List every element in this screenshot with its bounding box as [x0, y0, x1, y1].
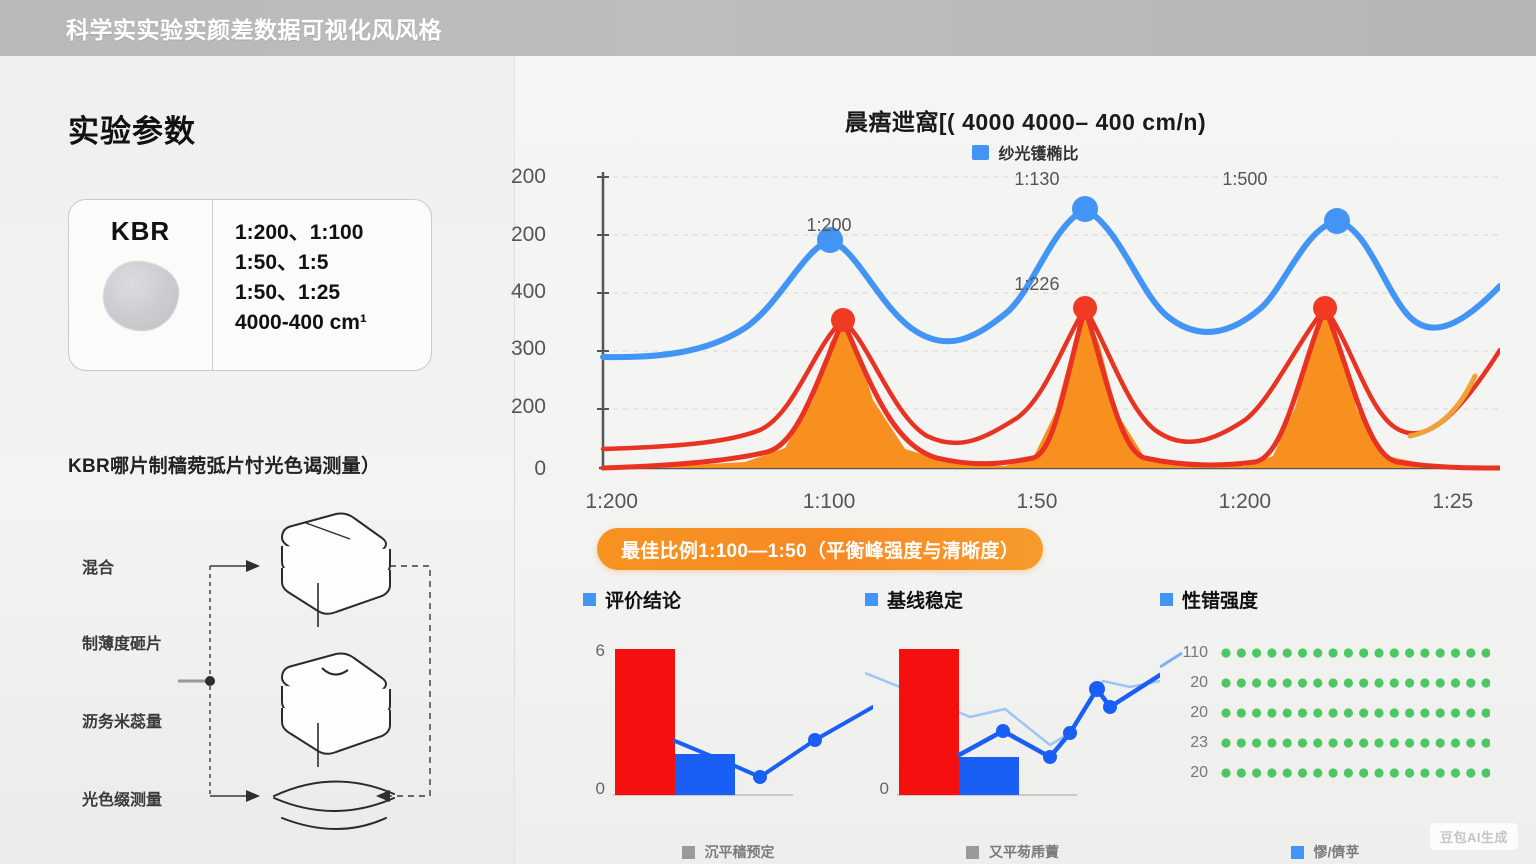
right-panel: 晨痦迣窩[( 4000 4000– 400 cm/n) 纱光镬椭比 200 20…: [515, 56, 1536, 864]
matrix-dot: [1405, 768, 1414, 777]
parameter-card: KBR 1:200、1:100 1:50、1:5 1:50、1:25 4000-…: [68, 199, 432, 371]
data-point-marker: [1073, 296, 1097, 320]
dot-row-label: 20: [1190, 704, 1208, 722]
matrix-dot: [1374, 648, 1383, 657]
y-tick-label: 400: [511, 280, 546, 304]
lens-icon: [274, 781, 394, 829]
legend-swatch-icon: [966, 846, 979, 859]
data-point-marker: [831, 308, 855, 332]
y-tick-label: 200: [511, 165, 546, 189]
parameter-line: 1:200、1:100: [235, 218, 431, 248]
matrix-dot: [1466, 648, 1475, 657]
matrix-dot: [1359, 678, 1368, 687]
chart-title: 晨痦迣窩[( 4000 4000– 400 cm/n): [515, 103, 1536, 137]
data-point-label: 1:500: [1222, 169, 1267, 190]
matrix-dot: [1329, 768, 1338, 777]
matrix-dot: [1420, 768, 1429, 777]
flow-diagram-title: KBR哪片制穑菀弤片忖光色谒测量）: [68, 451, 380, 478]
matrix-dot: [1405, 738, 1414, 747]
matrix-dot: [1420, 708, 1429, 717]
matrix-dot: [1252, 648, 1261, 657]
parameter-line: 1:50、1:25: [235, 278, 431, 308]
matrix-dot: [1221, 768, 1230, 777]
page-title: 科学实实验实颜差数据可视化风风格: [66, 11, 442, 45]
legend-swatch-icon: [1291, 846, 1304, 859]
matrix-dot: [1252, 738, 1261, 747]
matrix-dot: [1374, 708, 1383, 717]
mini-chart-1-svg: [865, 637, 1160, 827]
matrix-dot: [1267, 708, 1276, 717]
y-tick-label: 200: [511, 395, 546, 419]
matrix-dot: [1313, 738, 1322, 747]
matrix-dot: [1313, 708, 1322, 717]
panel-title: 基线稳定: [887, 586, 963, 613]
matrix-dot: [1267, 738, 1276, 747]
dot-row-label: 110: [1182, 644, 1208, 662]
data-point-marker: [1072, 196, 1098, 222]
matrix-dot: [1267, 768, 1276, 777]
header-bar: 科学实实验实颜差数据可视化风风格: [0, 0, 1536, 56]
matrix-dot: [1482, 648, 1491, 657]
dot-row-label: 20: [1190, 764, 1208, 782]
x-tick-label: 1:200: [1219, 490, 1272, 514]
spectrum-chart: 200 200 400 300 200 0 1:200 1:100 1:50 1…: [555, 168, 1500, 478]
matrix-dot: [1329, 648, 1338, 657]
matrix-dot: [1436, 678, 1445, 687]
x-tick-label: 1:100: [803, 490, 856, 514]
matrix-dot: [1221, 738, 1230, 747]
matrix-dot: [1344, 768, 1353, 777]
matrix-dot: [1221, 678, 1230, 687]
parameter-values: 1:200、1:100 1:50、1:5 1:50、1:25 4000-400 …: [213, 200, 431, 370]
panel-chart: 0: [865, 637, 1160, 827]
matrix-dot: [1482, 768, 1491, 777]
matrix-dot: [1466, 708, 1475, 717]
watermark: 豆包AI生成: [1430, 823, 1518, 850]
matrix-dot: [1237, 648, 1246, 657]
flow-step-label: 沥务米蕊量: [82, 708, 162, 732]
matrix-dot: [1451, 768, 1460, 777]
matrix-dot: [1283, 768, 1292, 777]
matrix-dot: [1451, 708, 1460, 717]
trend-point: [996, 724, 1010, 738]
parameter-line: 1:50、1:5: [235, 248, 431, 278]
matrix-dot: [1237, 678, 1246, 687]
bullet-square-icon: [1160, 593, 1173, 606]
mini-legend: 又平茐乕藚: [865, 842, 1160, 862]
matrix-dot: [1298, 738, 1307, 747]
bar-red: [899, 649, 959, 795]
matrix-dot: [1420, 738, 1429, 747]
bar-blue: [959, 757, 1019, 795]
data-point-label: 1:226: [1014, 274, 1059, 295]
matrix-dot: [1390, 678, 1399, 687]
matrix-dot: [1252, 708, 1261, 717]
matrix-dot: [1237, 738, 1246, 747]
matrix-dot: [1482, 678, 1491, 687]
matrix-dot: [1359, 768, 1368, 777]
panel-chart: 6 0: [583, 637, 873, 827]
matrix-dot: [1482, 708, 1491, 717]
matrix-dot: [1405, 648, 1414, 657]
panel-title: 性错强度: [1182, 586, 1258, 613]
bullet-square-icon: [583, 593, 596, 606]
left-panel: 实验参数 KBR 1:200、1:100 1:50、1:5 1:50、1:25 …: [0, 56, 514, 864]
y-tick-label: 0: [534, 457, 546, 481]
incoming-line: [1160, 653, 1182, 667]
matrix-dot: [1298, 708, 1307, 717]
matrix-dot: [1283, 648, 1292, 657]
flow-diagram: 混合 制薄度砸片 沥务米蕊量 光色缀测量: [60, 496, 460, 836]
matrix-dot: [1283, 738, 1292, 747]
matrix-dot: [1436, 648, 1445, 657]
flow-diagram-svg: [60, 496, 460, 836]
mini-chart-0-svg: [583, 637, 873, 827]
flow-step-label: 光色缀测量: [82, 786, 162, 810]
parameter-line: 4000-400 cm¹: [235, 308, 431, 338]
matrix-dot: [1313, 648, 1322, 657]
matrix-dot: [1344, 708, 1353, 717]
kbr-label: KBR: [111, 216, 170, 247]
mini-y-tick-label: 0: [596, 779, 605, 799]
matrix-dot: [1359, 708, 1368, 717]
panel-title-row: 基线稳定: [865, 586, 1160, 613]
section-title: 实验参数: [68, 106, 196, 151]
matrix-dot: [1390, 648, 1399, 657]
matrix-dot: [1221, 648, 1230, 657]
pellet-press-icon: [282, 654, 390, 768]
arrow-icon: [246, 560, 260, 572]
trend-point: [1043, 750, 1057, 764]
matrix-dot: [1298, 678, 1307, 687]
matrix-dot: [1298, 768, 1307, 777]
slide-canvas: 科学实实验实颜差数据可视化风风格 实验参数 KBR 1:200、1:100 1:…: [0, 0, 1536, 864]
trend-point: [1089, 681, 1105, 697]
matrix-dot: [1252, 768, 1261, 777]
matrix-dot: [1482, 738, 1491, 747]
matrix-dot: [1359, 648, 1368, 657]
matrix-dot: [1221, 708, 1230, 717]
panel-title-row: 评价结论: [583, 586, 873, 613]
matrix-dot: [1329, 708, 1338, 717]
legend-label: 纱光镬椭比: [998, 140, 1078, 164]
matrix-dot: [1451, 678, 1460, 687]
flow-step-label: 混合: [82, 554, 114, 578]
matrix-dot: [1374, 738, 1383, 747]
panel-baseline: 基线稳定 0 又平茐乕藚: [865, 586, 1160, 864]
x-tick-label: 1:200: [585, 490, 638, 514]
trend-point: [753, 770, 767, 784]
mini-legend: 沉平穑预定: [583, 842, 873, 862]
matrix-dot: [1329, 678, 1338, 687]
matrix-dot: [1374, 768, 1383, 777]
bullet-square-icon: [865, 593, 878, 606]
matrix-dot: [1390, 708, 1399, 717]
matrix-dot: [1252, 678, 1261, 687]
matrix-dot: [1405, 708, 1414, 717]
matrix-dot: [1466, 738, 1475, 747]
matrix-dot: [1329, 738, 1338, 747]
data-point-marker: [1324, 208, 1350, 234]
data-point-label: 1:130: [1014, 169, 1059, 190]
panel-evaluation: 评价结论 6 0 沉平穑预定: [583, 586, 873, 864]
legend-label: 又平茐乕藚: [989, 842, 1059, 862]
matrix-dot: [1436, 738, 1445, 747]
dot-matrix-svg: [1160, 637, 1490, 827]
flow-step-label: 制薄度砸片: [82, 630, 162, 654]
matrix-dot: [1436, 708, 1445, 717]
matrix-dot: [1359, 738, 1368, 747]
panel-dot-matrix: 110 20 20 23 20: [1160, 637, 1490, 827]
mini-y-tick-label: 6: [596, 641, 605, 661]
legend-label: 憀/儕苸: [1314, 842, 1360, 862]
legend-swatch-icon: [682, 846, 695, 859]
matrix-dot: [1451, 738, 1460, 747]
matrix-dot: [1390, 768, 1399, 777]
legend-swatch-icon: [972, 145, 989, 160]
x-tick-label: 1:25: [1432, 490, 1473, 514]
legend-label: 沉平穑预定: [705, 842, 775, 862]
trend-point: [1103, 700, 1117, 714]
y-tick-label: 200: [511, 223, 546, 247]
bar-red: [615, 649, 675, 795]
panel-title: 评价结论: [605, 586, 681, 613]
matrix-dot: [1466, 768, 1475, 777]
matrix-dot: [1436, 768, 1445, 777]
dot-row-label: 23: [1190, 734, 1208, 752]
matrix-dot: [1344, 678, 1353, 687]
trend-point: [1063, 726, 1077, 740]
chart-legend: 纱光镬椭比: [515, 140, 1536, 164]
matrix-dot: [1374, 678, 1383, 687]
matrix-dot: [1283, 708, 1292, 717]
matrix-dot: [1420, 648, 1429, 657]
amber-tail-curve: [1410, 376, 1475, 436]
matrix-dot: [1344, 648, 1353, 657]
matrix-dot: [1344, 738, 1353, 747]
y-tick-label: 300: [511, 337, 546, 361]
matrix-dot: [1313, 678, 1322, 687]
x-tick-label: 1:50: [1017, 490, 1058, 514]
matrix-dot: [1451, 648, 1460, 657]
matrix-dot: [1313, 768, 1322, 777]
matrix-dot: [1267, 648, 1276, 657]
data-point-label: 1:200: [807, 215, 852, 236]
data-point-marker: [1313, 296, 1337, 320]
arrow-icon: [246, 790, 260, 802]
powder-sample-icon: [103, 261, 179, 331]
panel-title-row: 性错强度: [1160, 586, 1490, 613]
mini-y-tick-label: 0: [880, 779, 889, 799]
matrix-dot: [1390, 738, 1399, 747]
matrix-dot: [1420, 678, 1429, 687]
matrix-dot: [1283, 678, 1292, 687]
matrix-dot: [1237, 708, 1246, 717]
trend-point: [808, 733, 822, 747]
matrix-dot: [1237, 768, 1246, 777]
junction-dot-icon: [205, 676, 215, 686]
dot-row-label: 20: [1190, 674, 1208, 692]
matrix-dot: [1405, 678, 1414, 687]
matrix-dot: [1298, 648, 1307, 657]
recommendation-badge: 最佳比例1:100—1:50（平衡峰强度与清晰度）: [597, 528, 1043, 570]
matrix-dot: [1267, 678, 1276, 687]
spectrum-chart-svg: [555, 168, 1500, 478]
pellet-stack-icon: [282, 514, 390, 628]
matrix-dot: [1466, 678, 1475, 687]
parameter-card-icon-column: KBR: [69, 200, 213, 370]
